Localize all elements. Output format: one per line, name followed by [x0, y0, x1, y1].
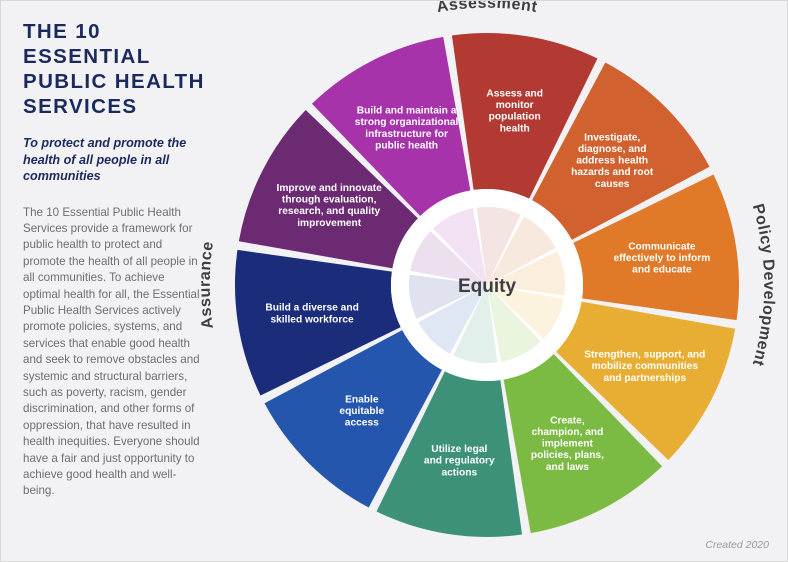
- intro-text-column: THE 10 ESSENTIAL PUBLIC HEALTH SERVICES …: [23, 19, 205, 500]
- essential-services-wheel: Assess andmonitorpopulationhealthInvesti…: [187, 0, 787, 562]
- page-subtitle: To protect and promote the health of all…: [23, 135, 205, 185]
- ring-label-assurance-path: Assurance: [197, 240, 217, 330]
- ring-label-policy-development: Policy Development: [749, 202, 778, 368]
- page-body-text: The 10 Essential Public Health Services …: [23, 205, 205, 500]
- created-credit: Created 2020: [705, 539, 769, 551]
- ring-label-assessment: Assessment: [435, 0, 538, 16]
- ring-label-policy-development-path: Policy Development: [749, 202, 778, 368]
- ring-label-assessment-path: Assessment: [435, 0, 538, 16]
- wheel-svg: Assess andmonitorpopulationhealthInvesti…: [187, 0, 787, 562]
- equity-label: Equity: [458, 276, 516, 297]
- page-title: THE 10 ESSENTIAL PUBLIC HEALTH SERVICES: [23, 19, 205, 119]
- infographic-poster: THE 10 ESSENTIAL PUBLIC HEALTH SERVICES …: [0, 0, 788, 562]
- ring-label-assurance: Assurance: [197, 240, 217, 330]
